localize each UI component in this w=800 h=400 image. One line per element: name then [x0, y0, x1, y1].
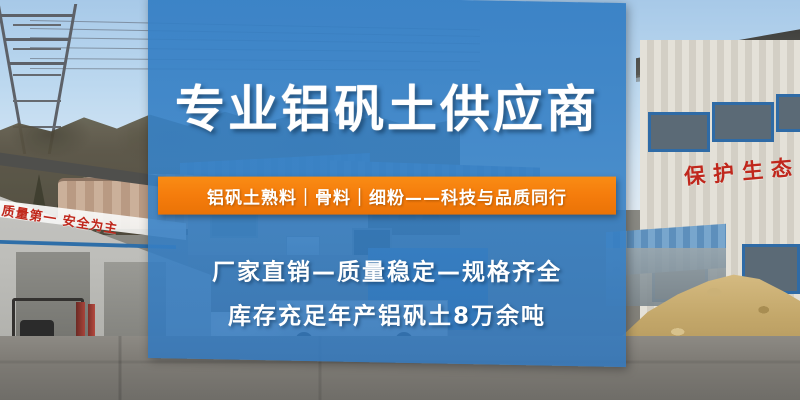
right-building-window-1: [648, 112, 710, 152]
ribbon-text: 铝矾土熟料｜骨料｜细粉——科技与品质同行: [207, 183, 567, 208]
right-building-window-2: [712, 102, 774, 142]
subtitle-line-2: 库存充足年产铝矾土8万余吨: [148, 295, 626, 339]
subtitle-line-1: 厂家直销—质量稳定—规格齐全: [148, 251, 626, 295]
subtitle-group: 厂家直销—质量稳定—规格齐全 库存充足年产铝矾土8万余吨: [148, 251, 626, 339]
orange-ribbon: 铝矾土熟料｜骨料｜细粉——科技与品质同行: [158, 177, 616, 215]
right-building-window-3: [776, 94, 800, 132]
promotional-banner: 质量第一 安全为主 保护生态 专业铝矾土供应商 铝矾土熟料｜骨料｜细粉: [0, 0, 800, 400]
blue-overlay-panel: 专业铝矾土供应商 铝矾土熟料｜骨料｜细粉——科技与品质同行 厂家直销—质量稳定—…: [148, 0, 626, 367]
headline-title: 专业铝矾土供应商: [148, 85, 626, 135]
